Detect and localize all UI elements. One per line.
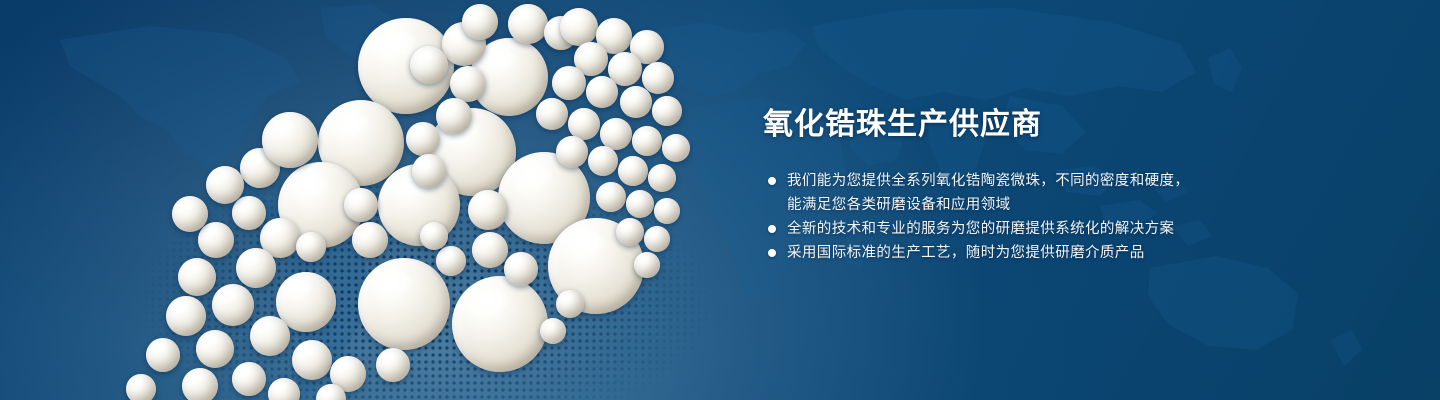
bullet-text-line-1: 全新的技术和专业的服务为您的研磨提供系统化的解决方案 <box>787 221 1174 237</box>
bead <box>472 232 508 268</box>
bead <box>278 162 364 248</box>
bead <box>442 22 486 66</box>
bead <box>544 16 578 50</box>
bead <box>146 338 180 372</box>
bead <box>586 76 618 108</box>
bead <box>212 284 254 326</box>
bead <box>182 368 218 400</box>
bead <box>178 258 216 296</box>
bead <box>470 38 548 116</box>
bead <box>236 248 276 288</box>
bead <box>250 316 290 356</box>
bead <box>452 276 548 372</box>
bead <box>410 46 448 84</box>
bead <box>316 384 346 400</box>
bead <box>406 122 440 156</box>
bead <box>126 374 156 400</box>
bead <box>196 330 234 368</box>
feature-bullet-list: 我们能为您提供全系列氧化锆陶瓷微珠，不同的密度和硬度， 能满足您各类研磨设备和应… <box>763 169 1383 265</box>
bead <box>552 66 586 100</box>
hero-banner: 氧化锆珠生产供应商 我们能为您提供全系列氧化锆陶瓷微珠，不同的密度和硬度， 能满… <box>0 0 1440 400</box>
bead <box>232 362 266 396</box>
bullet-dot-icon <box>768 225 776 233</box>
bead <box>536 98 568 130</box>
bead <box>268 378 300 400</box>
bead <box>648 164 676 192</box>
bead <box>376 348 410 382</box>
bead <box>644 226 670 252</box>
bead <box>412 154 446 188</box>
bead <box>632 126 662 156</box>
bead <box>662 134 690 162</box>
bead <box>166 296 206 336</box>
bullet-text-line-1: 我们能为您提供全系列氧化锆陶瓷微珠，不同的密度和硬度， <box>787 173 1189 189</box>
list-item: 我们能为您提供全系列氧化锆陶瓷微珠，不同的密度和硬度， 能满足您各类研磨设备和应… <box>763 169 1383 217</box>
bead <box>568 108 600 140</box>
bead <box>232 196 266 230</box>
bullet-dot-icon <box>768 177 776 185</box>
bead <box>654 198 680 224</box>
halftone-dot-texture <box>95 150 715 400</box>
bead <box>420 222 448 250</box>
bead <box>618 156 648 186</box>
bead <box>352 222 388 258</box>
bead <box>574 42 608 76</box>
bead <box>450 66 486 102</box>
bead <box>498 152 590 244</box>
bead <box>630 30 664 64</box>
bead <box>642 62 674 94</box>
bead <box>600 118 632 150</box>
bead <box>596 182 626 212</box>
bead <box>596 18 632 54</box>
bead <box>428 108 516 196</box>
bead <box>588 146 618 176</box>
zirconia-bead-cluster-image <box>0 0 740 400</box>
bead <box>462 4 498 40</box>
bullet-dot-icon <box>768 249 776 257</box>
bead <box>378 164 460 246</box>
bead <box>172 196 208 232</box>
bead <box>436 98 472 134</box>
bead <box>206 166 244 204</box>
list-item: 全新的技术和专业的服务为您的研磨提供系统化的解决方案 <box>763 217 1383 241</box>
list-item: 采用国际标准的生产工艺，随时为您提供研磨介质产品 <box>763 241 1383 265</box>
bead <box>262 112 318 168</box>
bead <box>652 96 682 126</box>
bead <box>240 148 280 188</box>
bead <box>504 252 538 286</box>
bullet-text-line-1: 采用国际标准的生产工艺，随时为您提供研磨介质产品 <box>787 245 1145 261</box>
bead <box>260 218 300 258</box>
bead <box>468 190 508 230</box>
bullet-text-line-2: 能满足您各类研磨设备和应用领域 <box>787 193 1383 217</box>
bead <box>620 86 652 118</box>
bead <box>276 272 336 332</box>
bead <box>330 356 366 392</box>
bead <box>626 190 654 218</box>
bead <box>296 232 326 262</box>
bead <box>292 340 332 380</box>
page-title: 氧化锆珠生产供应商 <box>763 108 1383 141</box>
bead <box>540 318 566 344</box>
bead <box>198 222 234 258</box>
bead <box>608 52 642 86</box>
bead <box>508 4 548 44</box>
bead <box>556 136 588 168</box>
bead <box>548 218 644 314</box>
bead <box>560 8 598 46</box>
bead <box>436 246 466 276</box>
banner-text-block: 氧化锆珠生产供应商 我们能为您提供全系列氧化锆陶瓷微珠，不同的密度和硬度， 能满… <box>763 108 1383 265</box>
bead <box>318 100 404 186</box>
bead <box>634 252 660 278</box>
bead <box>556 290 584 318</box>
bead <box>344 188 378 222</box>
bead <box>358 258 450 350</box>
bead <box>358 18 454 114</box>
bead <box>616 218 644 246</box>
